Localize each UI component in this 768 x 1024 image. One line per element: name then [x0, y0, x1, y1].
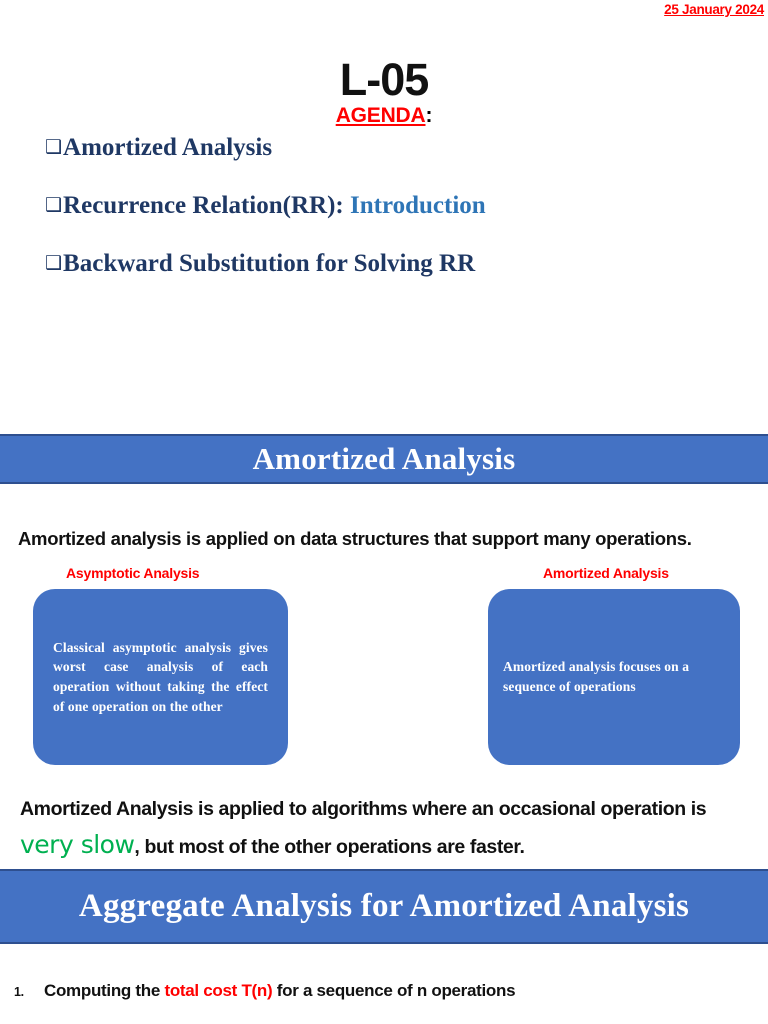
- aggregate-analysis-slide: Aggregate Analysis for Amortized Analysi…: [0, 869, 768, 1024]
- list-item-part2: for a sequence of n operations: [272, 981, 515, 1000]
- agenda-heading-label: AGENDA: [336, 104, 426, 127]
- list-item: 1. Computing the total cost T(n) for a s…: [14, 981, 754, 1001]
- agenda-heading-colon: :: [426, 104, 433, 127]
- amortized-analysis-label: Amortized Analysis: [543, 565, 669, 581]
- asymptotic-analysis-card-text: Classical asymptotic analysis gives wors…: [53, 638, 268, 716]
- aggregate-analysis-banner: Aggregate Analysis for Amortized Analysi…: [0, 869, 768, 944]
- amortized-analysis-card: Amortized analysis focuses on a sequence…: [488, 589, 740, 765]
- date-stamp: 25 January 2024: [664, 2, 764, 17]
- list-item-highlight: total cost T(n): [164, 981, 272, 1000]
- agenda-item-label: Backward Substitution for Solving RR: [63, 250, 475, 277]
- amortized-analysis-card-text: Amortized analysis focuses on a sequence…: [503, 657, 725, 696]
- amortized-analysis-slide: Amortized Analysis Amortized analysis is…: [0, 434, 768, 869]
- banner-title: Aggregate Analysis for Amortized Analysi…: [79, 888, 689, 925]
- closing-paragraph: Amortized Analysis is applied to algorit…: [20, 794, 732, 865]
- title-agenda-slide: 25 January 2024 L-05 AGENDA: ❑Amortized …: [0, 0, 768, 434]
- asymptotic-analysis-card: Classical asymptotic analysis gives wors…: [33, 589, 288, 765]
- banner-title: Amortized Analysis: [253, 441, 516, 477]
- closing-paragraph-highlight: very slow: [20, 830, 134, 859]
- lead-paragraph: Amortized analysis is applied on data st…: [18, 525, 718, 553]
- agenda-item-accent: Introduction: [350, 192, 486, 219]
- square-bullet-icon: ❑: [45, 252, 62, 274]
- agenda-item-recurrence-relation: ❑Recurrence Relation(RR): Introduction: [45, 190, 745, 222]
- asymptotic-analysis-label: Asymptotic Analysis: [66, 565, 199, 581]
- agenda-item-amortized-analysis: ❑Amortized Analysis: [45, 132, 745, 164]
- agenda-list: ❑Amortized Analysis ❑Recurrence Relation…: [45, 132, 745, 306]
- agenda-heading: AGENDA:: [0, 104, 768, 128]
- amortized-analysis-banner: Amortized Analysis: [0, 434, 768, 484]
- aggregate-steps-list: 1. Computing the total cost T(n) for a s…: [14, 981, 754, 1001]
- closing-paragraph-part2: , but most of the other operations are f…: [134, 836, 524, 858]
- square-bullet-icon: ❑: [45, 194, 62, 216]
- agenda-item-backward-substitution: ❑Backward Substitution for Solving RR: [45, 248, 745, 280]
- agenda-item-label: Recurrence Relation(RR):: [63, 192, 350, 219]
- list-item-number: 1.: [14, 985, 44, 999]
- page-title: L-05: [0, 54, 768, 106]
- list-item-part1: Computing the: [44, 981, 164, 1000]
- square-bullet-icon: ❑: [45, 136, 62, 158]
- closing-paragraph-part1: Amortized Analysis is applied to algorit…: [20, 798, 706, 820]
- agenda-item-label: Amortized Analysis: [63, 134, 272, 161]
- list-item-text: Computing the total cost T(n) for a sequ…: [44, 981, 515, 1001]
